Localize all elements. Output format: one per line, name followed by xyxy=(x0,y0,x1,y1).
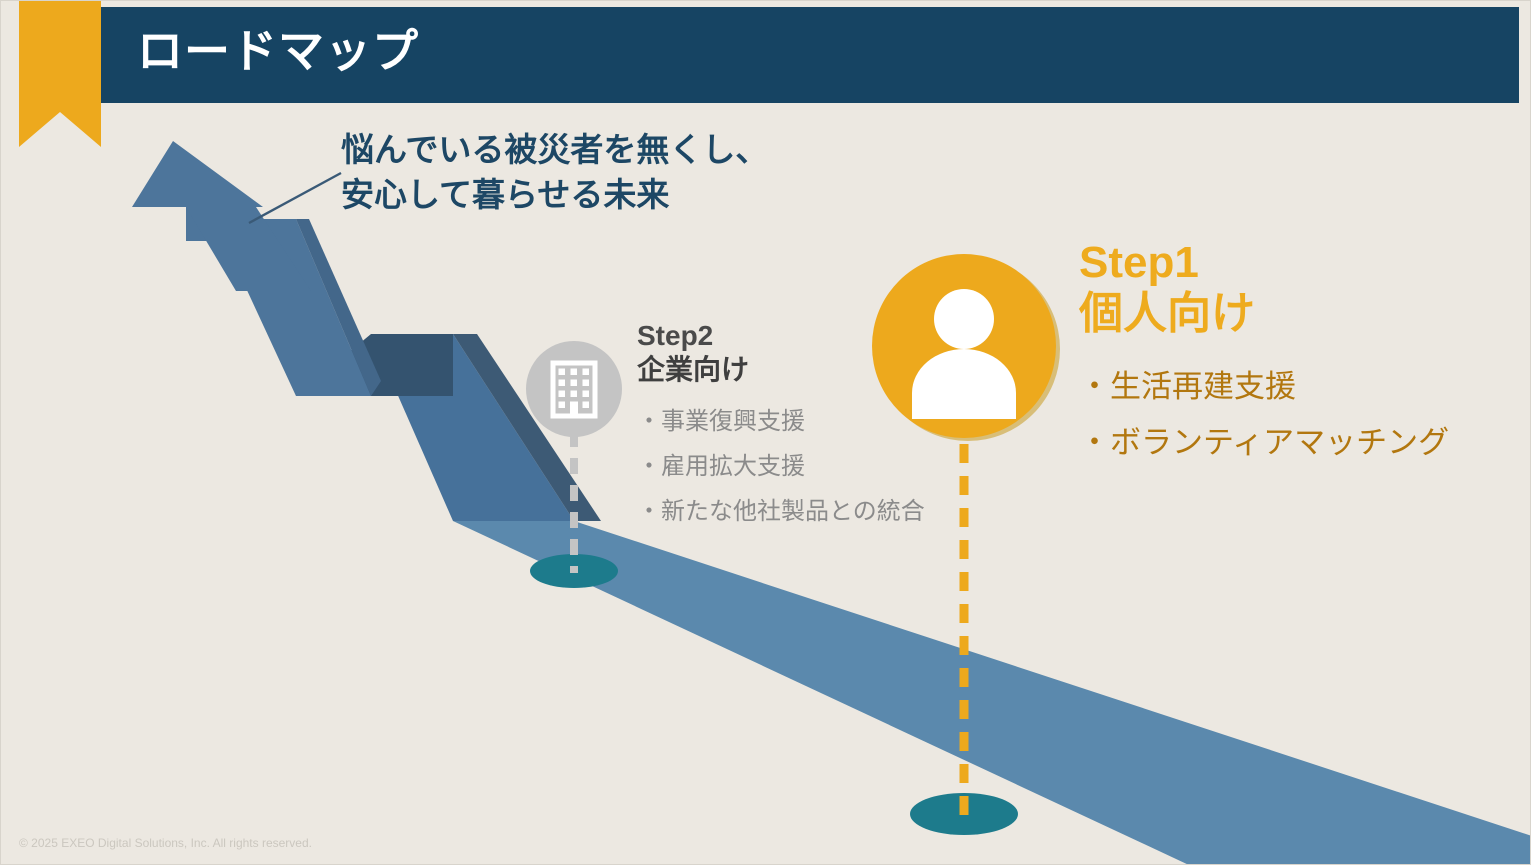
slide-canvas: ロードマップ xyxy=(0,0,1531,865)
step2-bullet-item: ・雇用拡大支援 xyxy=(637,444,925,489)
step2-bullet-item: ・事業復興支援 xyxy=(637,399,925,444)
vision-leader-line xyxy=(249,173,341,223)
step2-bullet-item: ・新たな他社製品との統合 xyxy=(637,489,925,534)
step1-bullet-item: ・生活再建支援 xyxy=(1079,359,1449,415)
footer-copyright: © 2025 EXEO Digital Solutions, Inc. All … xyxy=(19,836,312,850)
step2-text-block: Step2 企業向け ・事業復興支援 ・雇用拡大支援 ・新たな他社製品との統合 xyxy=(637,319,925,534)
vision-line-1: 悩んでいる被災者を無くし、 xyxy=(341,127,768,172)
vision-line-2: 安心して暮らせる未来 xyxy=(341,172,768,217)
vision-statement: 悩んでいる被災者を無くし、 安心して暮らせる未来 xyxy=(341,127,768,217)
step1-text-block: Step1 個人向け ・生活再建支援 ・ボランティアマッチング xyxy=(1079,237,1449,471)
step1-bullet-item: ・ボランティアマッチング xyxy=(1079,415,1449,471)
step1-subtitle: 個人向け xyxy=(1079,287,1449,341)
step2-bullet-list: ・事業復興支援 ・雇用拡大支援 ・新たな他社製品との統合 xyxy=(637,399,925,534)
step2-subtitle: 企業向け xyxy=(637,352,925,387)
step1-bullet-list: ・生活再建支援 ・ボランティアマッチング xyxy=(1079,359,1449,471)
step2-icon-circle[interactable] xyxy=(526,341,622,437)
step2-title: Step2 xyxy=(637,319,925,352)
step1-title: Step1 xyxy=(1079,237,1449,289)
